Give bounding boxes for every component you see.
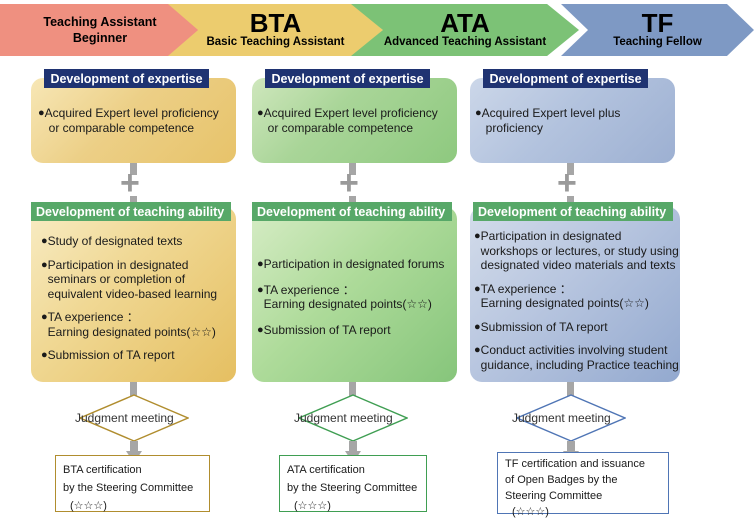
list-item: ● Conduct activities involving student g… — [474, 343, 680, 372]
chevron-tf[interactable]: TF Teaching Fellow — [561, 4, 754, 56]
cert-line: of Open Badges by the — [505, 472, 661, 488]
bullet-dot: ● — [41, 348, 48, 363]
cert-stars: (☆☆☆) — [505, 504, 661, 520]
cert-line: BTA certification — [63, 461, 202, 479]
bta-certification-box: BTA certification by the Steering Commit… — [55, 455, 210, 512]
ata-ability-band: Development of teaching ability — [252, 202, 452, 221]
bullet-dot: ● — [474, 343, 481, 358]
list-item: ● TA experience ： Earning designated poi… — [257, 283, 457, 312]
tf-ability-band-label: Development of teaching ability — [478, 205, 666, 219]
tf-expertise-band-label: Development of expertise — [489, 72, 641, 86]
list-item: ● Study of designated texts — [41, 234, 236, 249]
ata-plus-icon: + — [339, 168, 359, 198]
bullet-dot: ● — [257, 323, 264, 338]
list-item: ● Submission of TA report — [41, 348, 236, 363]
ata-certification-box: ATA certification by the Steering Commit… — [279, 455, 427, 512]
list-item-text: Participation in designated workshops or… — [481, 229, 680, 273]
ata-expertise-body: ● Acquired Expert level proficiency or c… — [257, 106, 455, 135]
list-item: ● Acquired Expert level plus proficiency — [475, 106, 673, 135]
bullet-dot: ● — [257, 257, 264, 272]
list-item-text: Submission of TA report — [48, 348, 236, 363]
list-item-text: Submission of TA report — [481, 320, 680, 335]
bta-ability-body: ● Study of designated texts ● Participat… — [41, 234, 236, 363]
cert-line: by the Steering Committee — [63, 479, 202, 497]
list-item-text: Study of designated texts — [48, 234, 236, 249]
tf-ability-band: Development of teaching ability — [473, 202, 673, 221]
list-item: ● Participation in designated seminars o… — [41, 258, 236, 302]
bullet-dot: ● — [474, 282, 481, 297]
cert-stars: (☆☆☆) — [287, 497, 419, 515]
list-item: ● Submission of TA report — [257, 323, 457, 338]
list-item: ● Acquired Expert level proficiency or c… — [38, 106, 234, 135]
list-item-text: Acquired Expert level plus proficiency — [482, 106, 673, 135]
ata-ability-card: Development of teaching ability ● Partic… — [252, 207, 457, 382]
bta-expertise-body: ● Acquired Expert level proficiency or c… — [38, 106, 234, 135]
chevron-tf-abbr: TF — [642, 11, 674, 35]
bta-ability-card: Development of teaching ability ● Study … — [31, 207, 236, 382]
chevron-ata-full: Advanced Teaching Assistant — [384, 35, 546, 49]
list-item: ● Participation in designated forums — [257, 257, 457, 272]
bullet-dot: ● — [475, 106, 482, 121]
bullet-dot: ● — [41, 234, 48, 249]
bullet-dot: ● — [474, 320, 481, 335]
tf-judgment-label: Judgment meeting — [512, 411, 611, 425]
chevron-bta-full: Basic Teaching Assistant — [206, 35, 344, 49]
cert-line: by the Steering Committee — [287, 479, 419, 497]
list-item-text: TA experience ： Earning designated point… — [481, 282, 680, 311]
tf-ability-body: ● Participation in designated workshops … — [474, 229, 680, 372]
bta-expertise-card: Development of expertise ● Acquired Expe… — [31, 78, 236, 163]
ata-expertise-card: Development of expertise ● Acquired Expe… — [252, 78, 457, 163]
bta-expertise-band-label: Development of expertise — [50, 72, 202, 86]
cert-line: TF certification and issuance — [505, 456, 661, 472]
tf-ability-card: Development of teaching ability ● Partic… — [470, 207, 680, 382]
chevron-bta[interactable]: BTA Basic Teaching Assistant — [168, 4, 383, 56]
list-item: ● Submission of TA report — [474, 320, 680, 335]
list-item: ● Participation in designated workshops … — [474, 229, 680, 273]
bullet-dot: ● — [474, 229, 481, 244]
stage-chevron-row: Teaching Assistant Beginner BTA Basic Te… — [0, 4, 754, 56]
chevron-tf-full: Teaching Fellow — [613, 35, 702, 49]
chevron-ta-beginner[interactable]: Teaching Assistant Beginner — [0, 4, 200, 56]
list-item-text: TA experience ： Earning designated point… — [48, 310, 236, 339]
tf-plus-icon: + — [557, 168, 577, 198]
tf-certification-box: TF certification and issuance of Open Ba… — [497, 452, 669, 514]
bta-ability-band: Development of teaching ability — [31, 202, 231, 221]
chevron-ata[interactable]: ATA Advanced Teaching Assistant — [351, 4, 579, 56]
bullet-dot: ● — [41, 258, 48, 273]
bta-expertise-band: Development of expertise — [44, 69, 209, 88]
chevron-bta-abbr: BTA — [250, 11, 302, 35]
bullet-dot: ● — [257, 283, 264, 298]
list-item-text: Participation in designated forums — [264, 257, 457, 272]
cert-line: Steering Committee — [505, 488, 661, 504]
list-item-text: TA experience ： Earning designated point… — [264, 283, 457, 312]
list-item-text: Participation in designated seminars or … — [48, 258, 236, 302]
ata-ability-body: ● Participation in designated forums ● T… — [257, 257, 457, 337]
list-item: ● TA experience ： Earning designated poi… — [41, 310, 236, 339]
tf-expertise-body: ● Acquired Expert level plus proficiency — [475, 106, 673, 135]
chevron-ta-beginner-line1: Teaching Assistant — [43, 14, 156, 30]
list-item-text: Submission of TA report — [264, 323, 457, 338]
cert-line: ATA certification — [287, 461, 419, 479]
list-item: ● TA experience ： Earning designated poi… — [474, 282, 680, 311]
ata-ability-band-label: Development of teaching ability — [257, 205, 445, 219]
list-item-text: Conduct activities involving student gui… — [481, 343, 680, 372]
cert-stars: (☆☆☆) — [63, 497, 202, 515]
bullet-dot: ● — [257, 106, 264, 121]
tf-expertise-band: Development of expertise — [483, 69, 648, 88]
chevron-ata-abbr: ATA — [440, 11, 490, 35]
bta-plus-icon: + — [120, 168, 140, 198]
bta-judgment-label: Judgment meeting — [75, 411, 174, 425]
list-item: ● Acquired Expert level proficiency or c… — [257, 106, 455, 135]
list-item-text: Acquired Expert level proficiency or com… — [264, 106, 455, 135]
tf-expertise-card: Development of expertise ● Acquired Expe… — [470, 78, 675, 163]
ata-expertise-band-label: Development of expertise — [271, 72, 423, 86]
bullet-dot: ● — [41, 310, 48, 325]
bullet-dot: ● — [38, 106, 45, 121]
diagram-canvas: Teaching Assistant Beginner BTA Basic Te… — [0, 0, 754, 524]
bta-ability-band-label: Development of teaching ability — [36, 205, 224, 219]
chevron-ta-beginner-line2: Beginner — [73, 30, 127, 46]
ata-expertise-band: Development of expertise — [265, 69, 430, 88]
ata-judgment-label: Judgment meeting — [294, 411, 393, 425]
list-item-text: Acquired Expert level proficiency or com… — [45, 106, 234, 135]
